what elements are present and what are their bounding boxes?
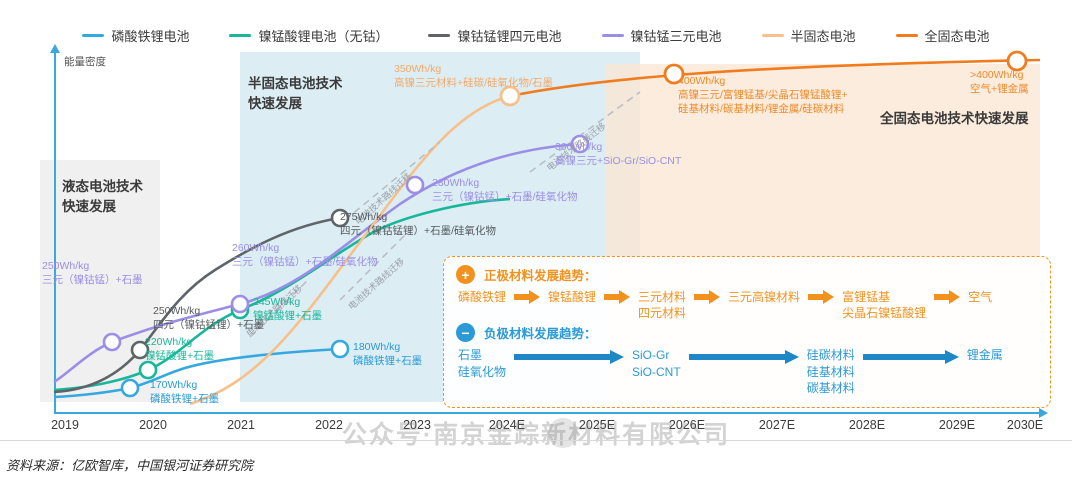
legend-swatch-ncm bbox=[602, 34, 624, 37]
anode-node-1: 石墨 硅氧化物 bbox=[458, 347, 506, 379]
source-note: 资料来源：亿欧智库，中国银河证券研究院 bbox=[6, 455, 253, 474]
point-label-lfp-170: 170Wh/kg 磷酸铁锂+石墨 bbox=[150, 378, 219, 406]
legend-label-lnmo: 镍锰酸锂电池（无钴） bbox=[258, 26, 388, 45]
arrow-right-icon bbox=[604, 290, 630, 304]
legend-label-allsolid: 全固态电池 bbox=[925, 26, 990, 45]
cathode-node-6: 空气 bbox=[968, 289, 992, 305]
point-label-semisolid-350: 350Wh/kg 高镍三元材料+硅碳/硅氧化物/石墨 bbox=[394, 62, 553, 90]
point-label-ncm-280: 280Wh/kg 三元（镍钴锰）+石墨/硅氧化物 bbox=[432, 176, 578, 204]
legend-swatch-semisolid bbox=[762, 34, 784, 37]
cathode-node-3: 三元材料 四元材料 bbox=[638, 289, 686, 321]
point-label-ncm-260: 260Wh/kg 三元（镍钴锰）+石墨/硅氧化物 bbox=[232, 241, 378, 269]
minus-icon: − bbox=[456, 323, 475, 342]
cathode-node-4: 三元高镍材料 bbox=[728, 289, 800, 305]
arrow-right-icon bbox=[514, 350, 624, 364]
cathode-title-row: + 正极材料发展趋势： bbox=[456, 265, 1038, 284]
arrow-right-icon bbox=[863, 350, 959, 364]
legend-swatch-allsolid bbox=[896, 34, 918, 37]
point-label-allsolid-400plus: >400Wh/kg 空气+锂金属 bbox=[970, 68, 1029, 96]
point-label-allsolid-400: 400Wh/kg 高镍三元/富锂锰基/尖晶石镍锰酸锂+ 硅基材料/碳基材料/锂金… bbox=[678, 74, 847, 117]
chart-root: 磷酸铁锂电池 镍锰酸锂电池（无钴） 镍钴锰锂四元电池 镍钴锰三元电池 半固态电池… bbox=[0, 0, 1072, 484]
arrow-right-icon bbox=[808, 290, 834, 304]
legend-label-quaternary: 镍钴锰锂四元电池 bbox=[457, 26, 561, 45]
legend-swatch-quaternary bbox=[428, 34, 450, 37]
anode-title: 负极材料发展趋势： bbox=[484, 323, 597, 342]
cathode-node-2: 镍锰酸锂 bbox=[548, 289, 596, 305]
legend-swatch-lnmo bbox=[229, 34, 251, 37]
anode-chain: 石墨 硅氧化物 SiO-Gr SiO-CNT 硅碳材料 硅基材料 碳基材料 锂金… bbox=[458, 347, 1038, 396]
legend-label-lfp: 磷酸铁锂电池 bbox=[111, 26, 189, 45]
legend-item-semisolid: 半固态电池 bbox=[762, 26, 856, 45]
point-label-ncm-250: 250Wh/kg 三元（镍钴锰）+石墨 bbox=[42, 259, 143, 287]
legend-swatch-lfp bbox=[82, 34, 104, 37]
plus-icon: + bbox=[456, 265, 475, 284]
cathode-title: 正极材料发展趋势： bbox=[484, 265, 597, 284]
legend-label-ncm: 镍钴锰三元电池 bbox=[631, 26, 722, 45]
marker-ncm-250 bbox=[104, 334, 120, 350]
material-trend-box: + 正极材料发展趋势： 磷酸铁锂 镍锰酸锂 三元材料 四元材料 三元高镍材料 富… bbox=[443, 256, 1051, 408]
legend-item-lnmo: 镍锰酸锂电池（无钴） bbox=[229, 26, 388, 45]
anode-node-3: 硅碳材料 硅基材料 碳基材料 bbox=[807, 347, 855, 396]
legend-item-lfp: 磷酸铁锂电池 bbox=[82, 26, 189, 45]
anode-title-row: − 负极材料发展趋势： bbox=[456, 323, 1038, 342]
point-label-quat-275: 275Wh/kg 四元（镍钴锰锂）+石墨/硅氧化物 bbox=[340, 210, 496, 238]
arrow-right-icon bbox=[694, 290, 720, 304]
arrow-right-icon bbox=[934, 290, 960, 304]
chart-legend: 磷酸铁锂电池 镍锰酸锂电池（无钴） 镍钴锰锂四元电池 镍钴锰三元电池 半固态电池… bbox=[0, 22, 1072, 48]
cathode-node-5: 富锂锰基 尖晶石镍锰酸锂 bbox=[842, 289, 926, 321]
cathode-node-1: 磷酸铁锂 bbox=[458, 289, 506, 305]
point-label-lfp-180: 180Wh/kg 磷酸铁锂+石墨 bbox=[353, 340, 422, 368]
marker-lfp-180 bbox=[332, 341, 348, 357]
anode-node-2: SiO-Gr SiO-CNT bbox=[632, 347, 681, 379]
marker-lnmo-220 bbox=[140, 362, 156, 378]
point-label-lnmo-245: 245Wh/kg 镍锰酸锂+石墨 bbox=[253, 295, 322, 323]
legend-label-semisolid: 半固态电池 bbox=[791, 26, 856, 45]
arrow-right-icon bbox=[689, 350, 799, 364]
cathode-chain: 磷酸铁锂 镍锰酸锂 三元材料 四元材料 三元高镍材料 富锂锰基 尖晶石镍锰酸锂 … bbox=[458, 289, 1038, 321]
anode-node-4: 锂金属 bbox=[967, 347, 1003, 363]
point-label-lnmo-220: 220Wh/kg 镍锰酸锂+石墨 bbox=[145, 335, 214, 363]
point-label-quat-250: 250Wh/kg 四元（镍钴锰锂）+石墨 bbox=[153, 304, 264, 332]
marker-lfp-170 bbox=[122, 380, 138, 396]
legend-item-quaternary: 镍钴锰锂四元电池 bbox=[428, 26, 561, 45]
point-label-ncm-300: 300Wh/kg 高镍三元+SiO-Gr/SiO-CNT bbox=[555, 140, 681, 168]
watermark-text: 公众号·南京金踪新材料有限公司 bbox=[0, 415, 1072, 451]
arrow-right-icon bbox=[514, 290, 540, 304]
legend-item-allsolid: 全固态电池 bbox=[896, 26, 990, 45]
footer-divider bbox=[0, 440, 1072, 441]
legend-item-ncm: 镍钴锰三元电池 bbox=[602, 26, 722, 45]
